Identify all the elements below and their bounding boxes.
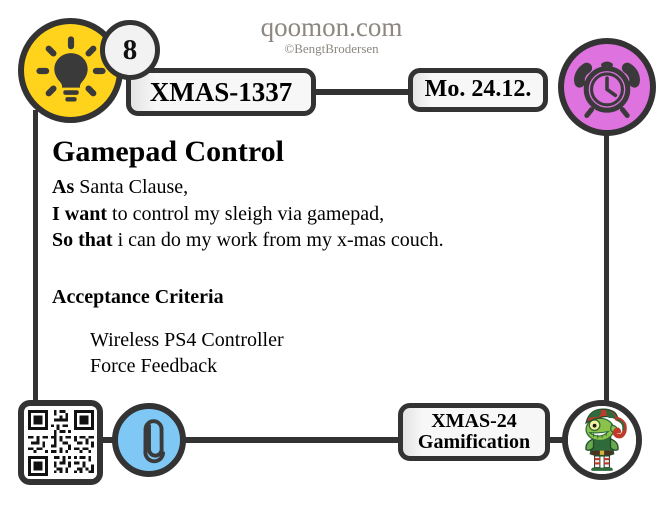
- connector-key-to-date: [308, 89, 416, 95]
- epic-key-text: XMAS-24: [431, 411, 517, 432]
- due-date-icon[interactable]: [558, 38, 656, 136]
- lightbulb-icon: [30, 30, 112, 112]
- due-date-label[interactable]: Mo. 24.12.: [408, 68, 548, 112]
- epic-name-text: Gamification: [418, 432, 530, 453]
- story-points-value: 8: [123, 36, 138, 65]
- list-item: Wireless PS4 Controller: [90, 327, 612, 353]
- story-line-as: As Santa Clause,: [52, 174, 612, 200]
- acceptance-criteria-list: Wireless PS4 Controller Force Feedback: [52, 327, 612, 380]
- connector-clip-to-epic: [178, 437, 406, 443]
- story-line-sothat: So that i can do my work from my x-mas c…: [52, 227, 612, 253]
- story-iwant-text: to control my sleigh via gamepad,: [107, 203, 384, 225]
- qr-code[interactable]: [18, 400, 103, 485]
- alarm-clock-icon: [569, 49, 645, 125]
- due-date-text: Mo. 24.12.: [425, 77, 532, 102]
- card-body: Gamepad Control As Santa Clause, I want …: [52, 136, 612, 379]
- story-as-text: Santa Clause,: [74, 176, 188, 198]
- epic-label[interactable]: XMAS-24 Gamification: [398, 403, 550, 461]
- frame-line-left: [33, 110, 38, 406]
- story-line-iwant: I want to control my sleigh via gamepad,: [52, 201, 612, 227]
- story-as-label: As: [52, 176, 74, 198]
- attachment-icon[interactable]: [112, 403, 186, 477]
- paperclip-icon: [122, 413, 176, 467]
- story-card: qoomon.com ©BengtBrodersen 8: [0, 0, 663, 506]
- elf-avatar-icon: [568, 404, 636, 476]
- acceptance-criteria-heading: Acceptance Criteria: [52, 285, 612, 309]
- issue-key-label[interactable]: XMAS-1337: [126, 68, 316, 116]
- story-title: Gamepad Control: [52, 136, 612, 168]
- issue-key-text: XMAS-1337: [150, 78, 293, 106]
- story-iwant-label: I want: [52, 203, 107, 225]
- story-points-badge: 8: [100, 20, 160, 80]
- avatar[interactable]: [562, 400, 642, 480]
- story-sothat-text: i can do my work from my x-mas couch.: [113, 229, 444, 251]
- story-sothat-label: So that: [52, 229, 113, 251]
- qr-code-icon: [25, 407, 97, 479]
- list-item: Force Feedback: [90, 353, 612, 379]
